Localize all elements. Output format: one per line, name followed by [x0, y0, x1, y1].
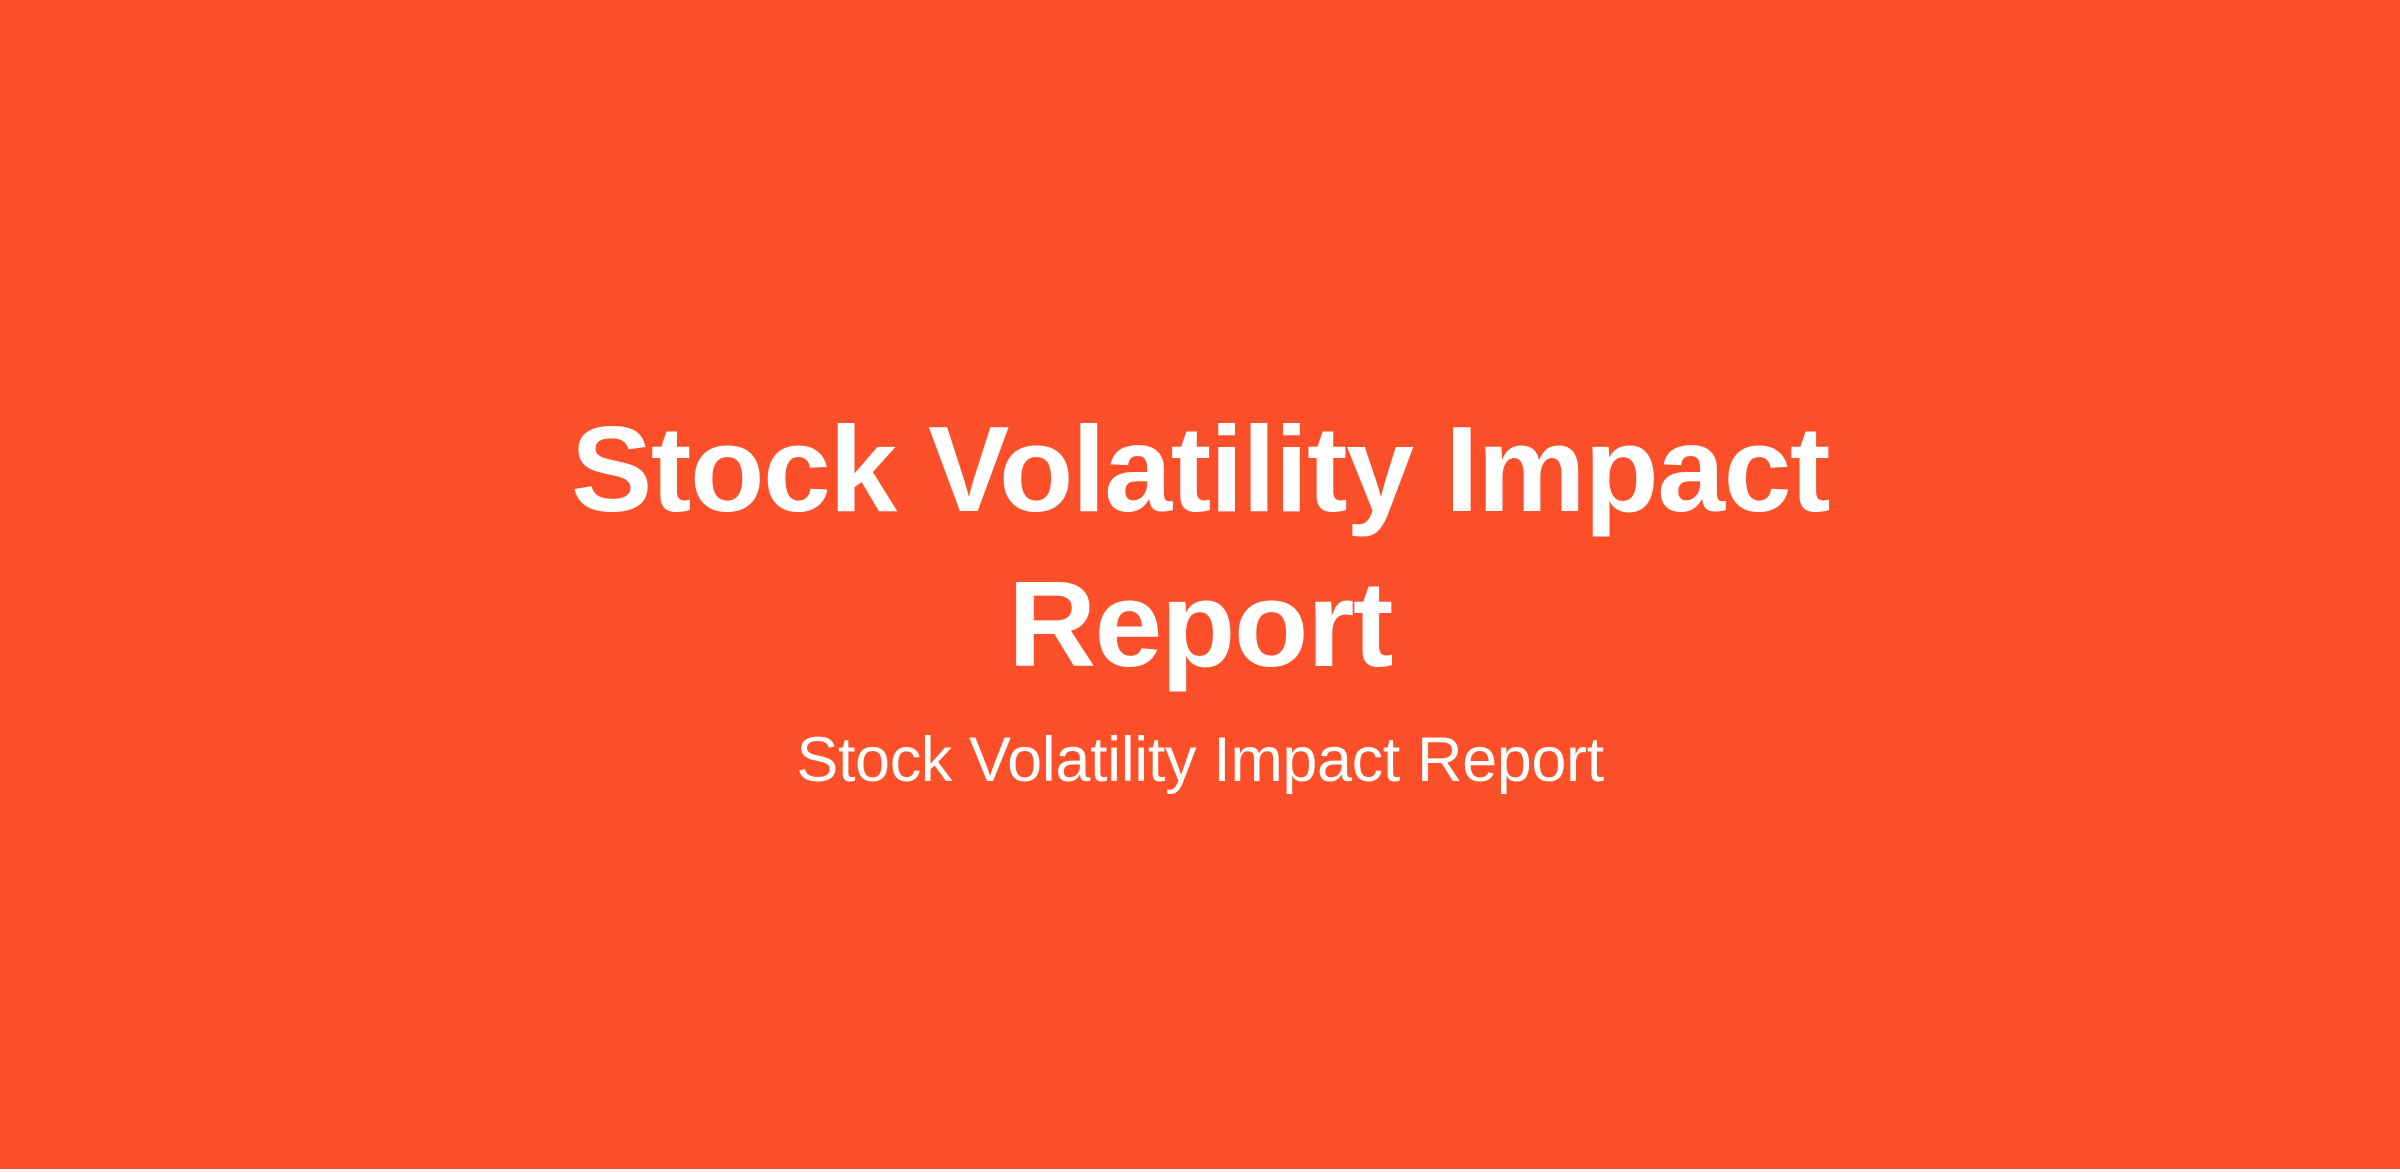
title-slide: Stock Volatility Impact Report Stock Vol…	[0, 0, 2400, 1173]
title-block: Stock Volatility Impact Report Stock Vol…	[0, 392, 2400, 802]
page-title: Stock Volatility Impact Report	[520, 392, 1880, 702]
page-subtitle: Stock Volatility Impact Report	[796, 720, 1603, 802]
bottom-edge-divider	[0, 1169, 2400, 1173]
